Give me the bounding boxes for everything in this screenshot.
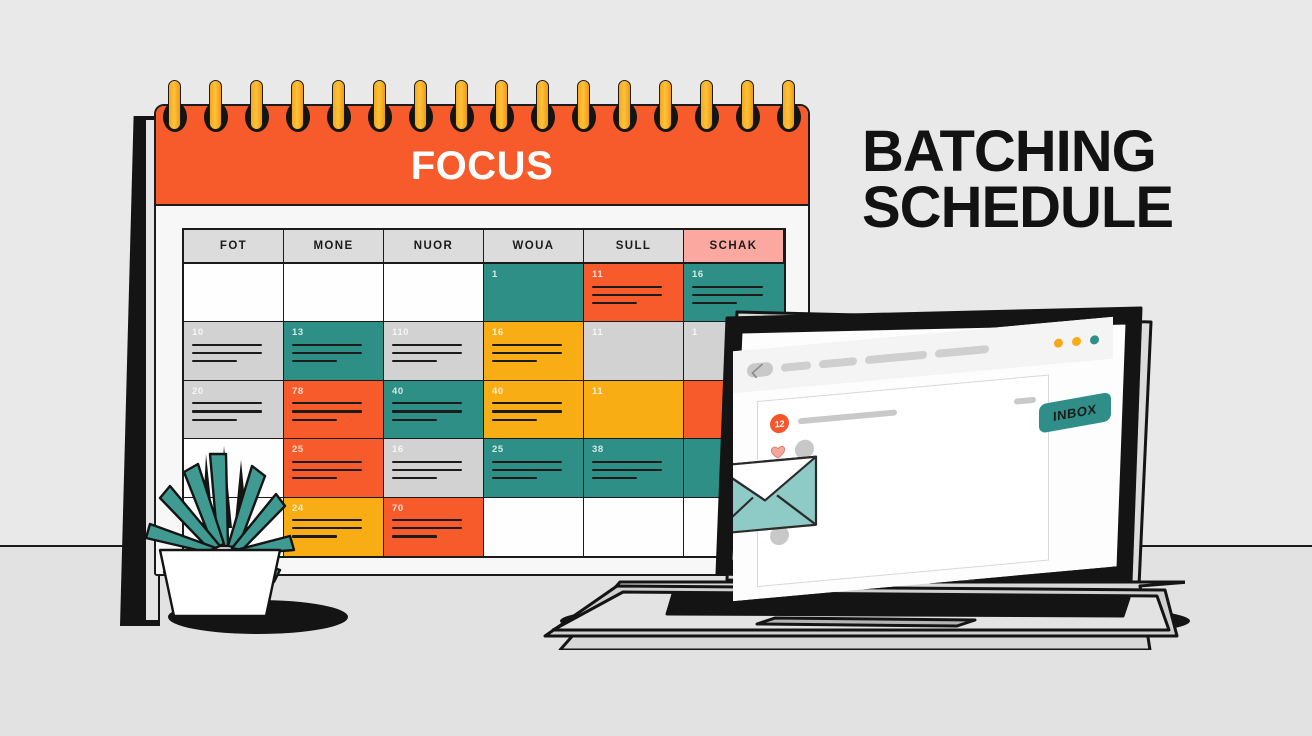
calendar-day-cell[interactable] [384,264,484,322]
status-dot-teal [1090,334,1099,344]
laptop-screen-content: 12 [733,317,1113,602]
calendar-day-header: NUOR [384,230,484,264]
calendar-event-line [392,344,462,346]
calendar-event-line [392,527,462,529]
spiral-wire [209,80,222,130]
spiral-ring [735,76,761,138]
spiral-ring [449,76,475,138]
calendar-day-number: 11 [592,270,675,280]
envelope-icon [733,451,819,539]
potted-agave-plant-icon [140,420,300,620]
calendar-day-number: 1 [492,270,575,280]
calendar-day-number: 78 [292,387,375,397]
calendar-event-lines [392,519,475,538]
calendar-day-cell[interactable]: 16 [384,439,484,497]
spiral-wire [741,80,754,130]
spiral-wire [782,80,795,130]
calendar-day-cell[interactable]: 40 [384,381,484,439]
spiral-wire [618,80,631,130]
calendar-day-cell[interactable] [184,264,284,322]
calendar-day-number: 24 [292,504,375,514]
calendar-day-cell[interactable]: 13 [284,322,384,380]
calendar-day-number: 16 [392,445,475,455]
calendar-event-line [292,360,337,362]
calendar-day-header: FOT [184,230,284,264]
unread-count-badge: 12 [770,413,789,434]
calendar-day-cell[interactable]: 110 [384,322,484,380]
calendar-event-lines [292,519,375,538]
calendar-event-line [592,294,662,296]
spiral-wire [414,80,427,130]
calendar-event-line [392,535,437,537]
calendar-event-line [292,519,362,521]
calendar-day-cell[interactable]: 10 [184,322,284,380]
calendar-day-header: MONE [284,230,384,264]
calendar-day-number: 70 [392,504,475,514]
calendar-day-number: 13 [292,328,375,338]
calendar-event-line [192,344,262,346]
page-title-line-2: SCHEDULE [862,180,1262,236]
spiral-ring [244,76,270,138]
calendar-day-cell[interactable] [284,264,384,322]
calendar-event-lines [292,344,375,363]
calendar-event-line [392,410,462,412]
browser-tab-pill[interactable] [781,361,811,372]
spiral-ring [530,76,556,138]
calendar-event-line [392,360,437,362]
calendar-event-line [392,519,462,521]
illustration-canvas: BATCHING SCHEDULE FOCUS FOTMONENUORWOUAS… [0,0,1312,736]
calendar-event-line [392,352,462,354]
calendar-spiral-binding [162,76,802,138]
status-dot-yellow [1072,336,1081,346]
calendar-event-line [692,286,763,288]
spiral-ring [571,76,597,138]
spiral-ring [367,76,393,138]
laptop-device: 12 [505,300,1185,650]
spiral-ring [653,76,679,138]
spiral-wire [495,80,508,130]
spiral-wire [373,80,386,130]
calendar-event-line [392,461,462,463]
calendar-event-line [192,360,237,362]
calendar-event-line [192,402,262,404]
spiral-wire [700,80,713,130]
calendar-event-line [692,294,763,296]
calendar-event-lines [392,402,475,421]
spiral-ring [203,76,229,138]
spiral-wire [577,80,590,130]
spiral-wire [168,80,181,130]
calendar-event-line [292,402,362,404]
spiral-ring [612,76,638,138]
browser-tab-pill[interactable] [865,351,927,365]
calendar-day-number: 10 [192,328,275,338]
calendar-day-number: 110 [392,328,475,338]
spiral-ring [489,76,515,138]
calendar-event-lines [292,402,375,421]
page-title-line-1: BATCHING [862,124,1262,180]
calendar-event-line [192,410,262,412]
browser-window: 12 [733,317,1113,602]
calendar-event-line [292,344,362,346]
browser-tab-pill[interactable] [935,345,989,358]
inbox-badge[interactable]: INBOX [1039,392,1111,434]
meta-placeholder [1014,397,1036,405]
calendar-day-header: WOUA [484,230,584,264]
calendar-title: FOCUS [411,144,554,189]
back-arrow-icon[interactable] [747,362,773,378]
calendar-event-lines [192,344,275,363]
spiral-ring [326,76,352,138]
calendar-event-line [392,477,437,479]
calendar-event-line [392,419,437,421]
calendar-event-lines [192,402,275,421]
spiral-ring [776,76,802,138]
spiral-wire [659,80,672,130]
spiral-wire [332,80,345,130]
spiral-ring [408,76,434,138]
calendar-event-line [192,352,262,354]
calendar-event-lines [392,461,475,480]
calendar-event-lines [292,461,375,480]
calendar-event-line [392,469,462,471]
spiral-ring [162,76,188,138]
browser-tab-pill[interactable] [819,357,857,368]
calendar-day-number: 20 [192,387,275,397]
calendar-event-line [592,286,662,288]
calendar-day-number: 16 [692,270,776,280]
calendar-event-line [292,461,362,463]
calendar-day-number: 40 [392,387,475,397]
browser-status-dots [1054,334,1099,347]
spiral-wire [536,80,549,130]
calendar-event-line [392,402,462,404]
spiral-wire [250,80,263,130]
subject-placeholder [798,409,897,424]
spiral-ring [285,76,311,138]
status-dot-orange [1054,338,1063,348]
calendar-day-header: SULL [584,230,684,264]
page-title: BATCHING SCHEDULE [862,124,1262,235]
calendar-day-cell[interactable]: 70 [384,498,484,556]
calendar-event-line [292,352,362,354]
calendar-day-header: SCHAK [684,230,784,264]
calendar-event-lines [392,344,475,363]
spiral-ring [694,76,720,138]
calendar-event-line [292,410,362,412]
spiral-wire [455,80,468,130]
calendar-day-number: 25 [292,445,375,455]
calendar-event-line [292,527,362,529]
spiral-wire [291,80,304,130]
calendar-event-line [292,469,362,471]
